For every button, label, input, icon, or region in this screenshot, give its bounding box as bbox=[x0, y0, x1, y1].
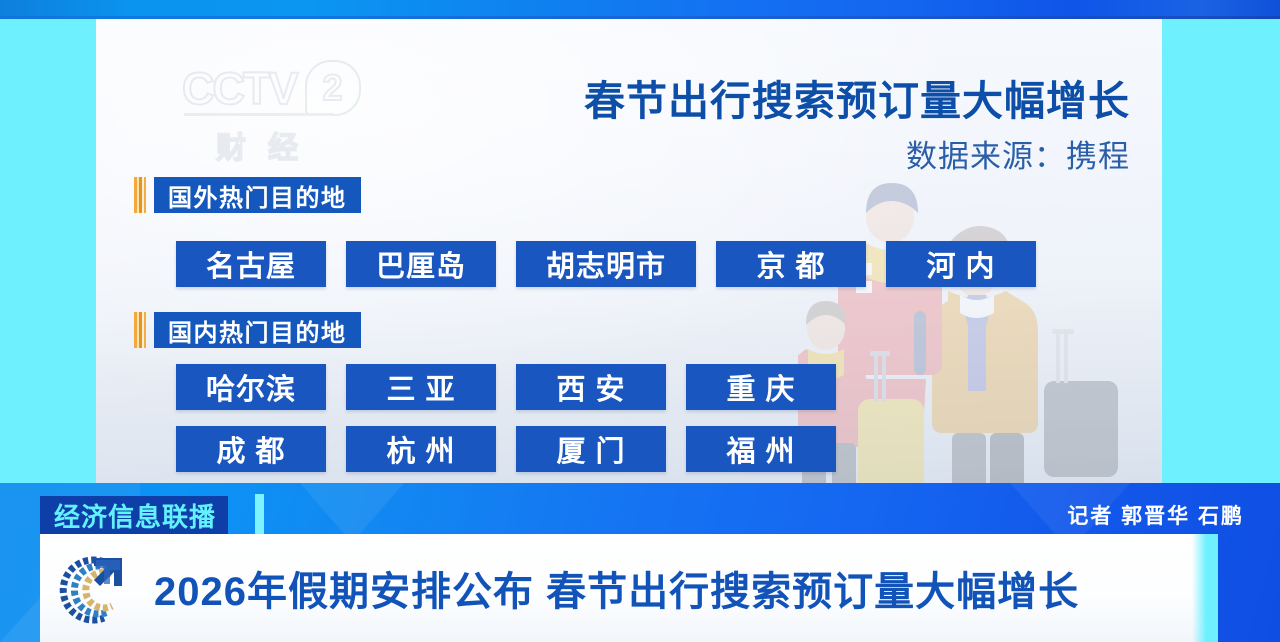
graphic-subtitle: 数据来源：携程 bbox=[906, 131, 1130, 176]
program-name-label: 经济信息联播 bbox=[54, 497, 216, 534]
destination-tag[interactable]: 西 安 bbox=[516, 364, 666, 410]
destination-tag[interactable]: 杭 州 bbox=[346, 426, 496, 472]
destination-tag[interactable]: 三 亚 bbox=[346, 364, 496, 410]
program-badge-tick bbox=[255, 494, 264, 536]
destination-row-domestic-1: 哈尔滨 三 亚 西 安 重 庆 bbox=[176, 364, 836, 410]
orange-accent-bar-icon bbox=[134, 312, 146, 348]
illustration-mother bbox=[838, 183, 942, 481]
destination-tag[interactable]: 河 内 bbox=[886, 241, 1036, 287]
program-name-badge: 经济信息联播 bbox=[40, 496, 228, 534]
cctv-logo-row: CCTV 2 bbox=[182, 61, 382, 115]
cctv-finance-arrow-logo-icon bbox=[58, 548, 134, 628]
destination-tag[interactable]: 哈尔滨 bbox=[176, 364, 326, 410]
section-header-overseas: 国外热门目的地 bbox=[134, 177, 361, 213]
destination-row-overseas-1: 名古屋 巴厘岛 胡志明市 京 都 河 内 bbox=[176, 241, 1036, 287]
lower-third-banner: 经济信息联播 记者 郭晋华 石鹏 2026年假期安排公布 春节出行搜索预订量大幅… bbox=[0, 483, 1280, 642]
tv-broadcast-screen: CCTV 2 财经 bbox=[0, 0, 1280, 642]
section-header-domestic: 国内热门目的地 bbox=[134, 312, 361, 348]
top-gradient-strip bbox=[0, 0, 1280, 19]
destination-tag[interactable]: 成 都 bbox=[176, 426, 326, 472]
destination-tag[interactable]: 福 州 bbox=[686, 426, 836, 472]
infographic-panel: CCTV 2 财经 bbox=[96, 19, 1162, 483]
destination-tag[interactable]: 胡志明市 bbox=[516, 241, 696, 287]
family-travel-illustration bbox=[798, 143, 1128, 483]
destination-row-domestic-2: 成 都 杭 州 厦 门 福 州 bbox=[176, 426, 836, 472]
headline-bar: 2026年假期安排公布 春节出行搜索预订量大幅增长 bbox=[40, 534, 1218, 642]
cctv-channel-number: 2 bbox=[305, 60, 361, 116]
section-header-overseas-label: 国外热门目的地 bbox=[154, 177, 361, 213]
destination-tag[interactable]: 京 都 bbox=[716, 241, 866, 287]
orange-accent-bar-icon bbox=[134, 177, 146, 213]
destination-tag[interactable]: 重 庆 bbox=[686, 364, 836, 410]
reporter-credits: 记者 郭晋华 石鹏 bbox=[1067, 500, 1244, 530]
cctv2-channel-logo: CCTV 2 财经 bbox=[182, 61, 382, 161]
section-header-domestic-label: 国内热门目的地 bbox=[154, 312, 361, 348]
graphic-title: 春节出行搜索预订量大幅增长 bbox=[584, 67, 1130, 127]
destination-tag[interactable]: 名古屋 bbox=[176, 241, 326, 287]
headline-text: 2026年假期安排公布 春节出行搜索预订量大幅增长 bbox=[154, 559, 1079, 617]
cctv-wordmark: CCTV bbox=[182, 66, 297, 111]
right-cyan-band bbox=[1162, 19, 1280, 483]
cctv-channel-subname: 财经 bbox=[182, 123, 382, 167]
destination-tag[interactable]: 巴厘岛 bbox=[346, 241, 496, 287]
destination-tag[interactable]: 厦 门 bbox=[516, 426, 666, 472]
left-cyan-band bbox=[0, 19, 96, 483]
cctv-underline bbox=[184, 113, 334, 116]
